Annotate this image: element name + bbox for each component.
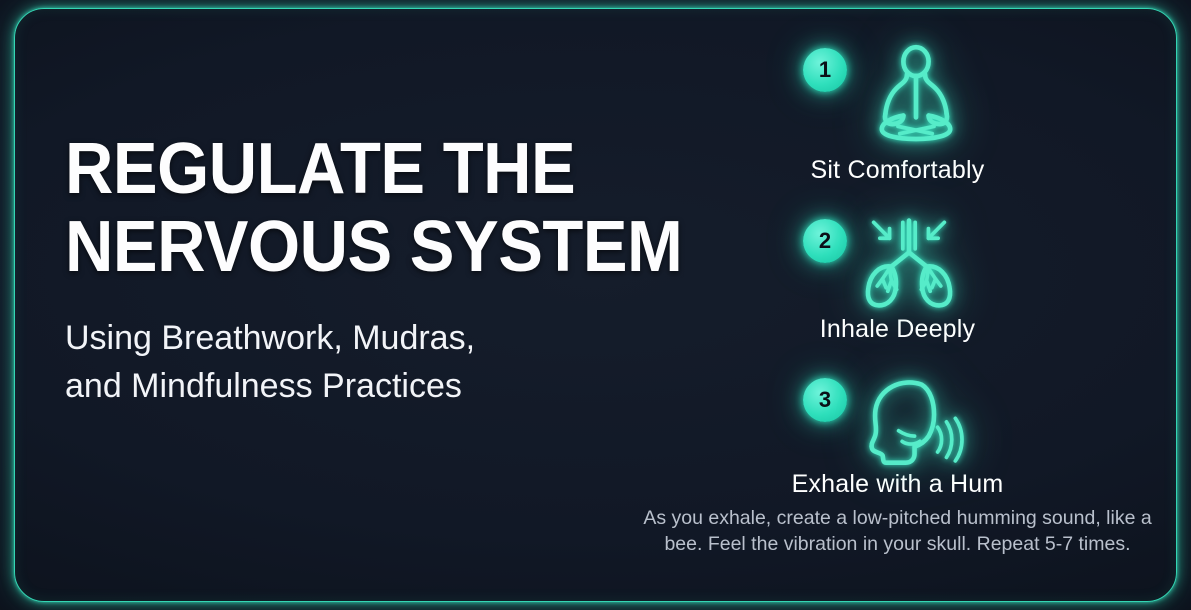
step-number-badge-3: 3	[803, 378, 847, 422]
step-label-1: Sit Comfortably	[640, 156, 1155, 185]
step-item-1: 1	[640, 38, 1155, 185]
step-3-visual-row: 3	[640, 374, 1155, 468]
step-number-badge-1: 1	[803, 48, 847, 92]
step-number-1: 1	[819, 57, 831, 83]
head-humming-icon	[856, 374, 966, 468]
subtitle-line-1: Using Breathwork, Mudras,	[65, 314, 625, 362]
page-subtitle: Using Breathwork, Mudras, and Mindfulnes…	[65, 314, 625, 410]
step-number-3: 3	[819, 387, 831, 413]
steps-list: 1	[640, 38, 1155, 557]
step-description-3: As you exhale, create a low-pitched humm…	[640, 505, 1155, 557]
step-item-3: 3 Exhale with a Hum	[640, 374, 1155, 557]
step-label-3: Exhale with a Hum	[640, 470, 1155, 499]
page-title: REGULATE THE NERVOUS SYSTEM	[65, 130, 586, 286]
headline-line-2: NERVOUS SYSTEM	[65, 208, 586, 286]
step-number-2: 2	[819, 228, 831, 254]
meditation-lotus-icon	[862, 40, 970, 148]
step-item-2: 2	[640, 215, 1155, 344]
step-number-badge-2: 2	[803, 219, 847, 263]
lungs-inhale-icon	[856, 213, 962, 313]
slide-canvas: REGULATE THE NERVOUS SYSTEM Using Breath…	[0, 0, 1191, 610]
headline-line-1: REGULATE THE	[65, 130, 586, 208]
title-block: REGULATE THE NERVOUS SYSTEM Using Breath…	[65, 130, 625, 410]
step-2-visual-row: 2	[640, 215, 1155, 311]
step-label-2: Inhale Deeply	[640, 315, 1155, 344]
subtitle-line-2: and Mindfulness Practices	[65, 362, 625, 410]
step-1-visual-row: 1	[640, 38, 1155, 150]
